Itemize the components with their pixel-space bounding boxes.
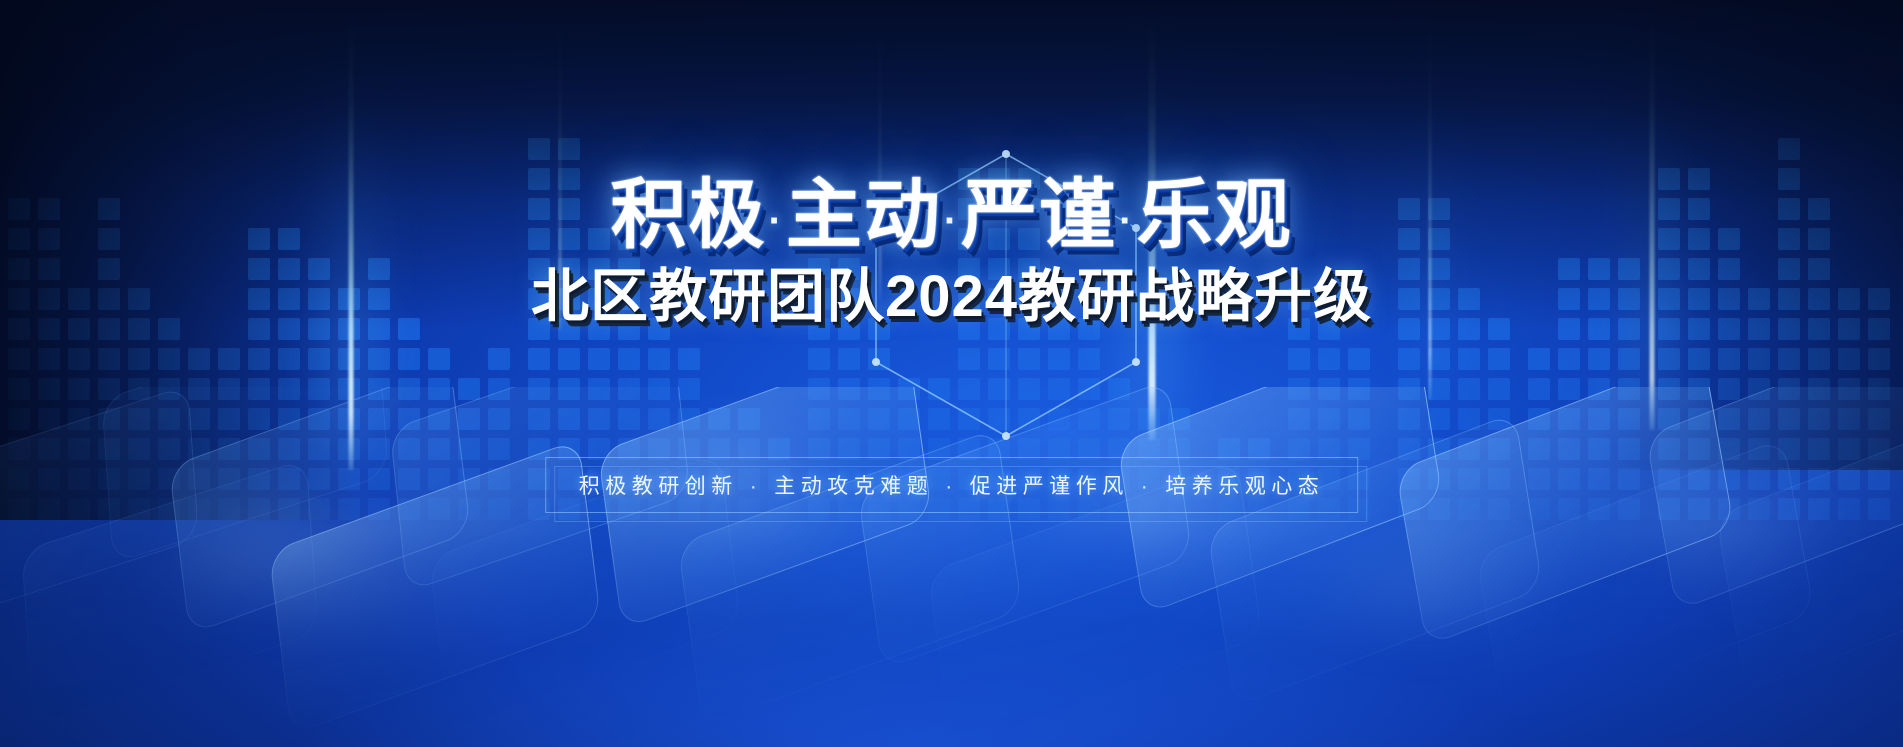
tagline-item-2: 主动攻克难题	[774, 475, 933, 498]
skyline-pixel	[1458, 498, 1480, 520]
skyline-pixel	[158, 348, 180, 370]
skyline-pixel	[188, 468, 210, 490]
skyline-column	[488, 348, 510, 520]
skyline-pixel	[278, 348, 300, 370]
skyline-pixel	[488, 468, 510, 490]
skyline-pixel	[1618, 408, 1640, 430]
skyline-pixel	[1658, 348, 1680, 370]
skyline-pixel	[1868, 468, 1890, 490]
skyline-pixel	[398, 498, 420, 520]
skyline-pixel	[38, 498, 60, 520]
skyline-pixel	[98, 438, 120, 460]
skyline-pixel	[988, 378, 1010, 400]
skyline-pixel	[1558, 378, 1580, 400]
skyline-pixel	[898, 408, 920, 430]
skyline-pixel	[1618, 498, 1640, 520]
skyline-pixel	[218, 378, 240, 400]
floor-sheen	[150, 507, 410, 627]
skyline-pixel	[1048, 408, 1070, 430]
skyline-pixel	[1658, 438, 1680, 460]
headline-separator-1: ·	[769, 199, 784, 243]
skyline-pixel	[898, 378, 920, 400]
skyline-pixel	[588, 378, 610, 400]
skyline-pixel	[68, 348, 90, 370]
skyline-pixel	[868, 348, 890, 370]
skyline-pixel	[1078, 408, 1100, 430]
skyline-pixel	[428, 498, 450, 520]
skyline-pixel	[1558, 438, 1580, 460]
skyline-pixel	[648, 408, 670, 430]
skyline-pixel	[128, 348, 150, 370]
page-subtitle: 北区教研团队2024教研战略升级	[0, 268, 1903, 326]
skyline-pixel	[1318, 408, 1340, 430]
skyline-pixel	[1778, 498, 1800, 520]
skyline-pixel	[38, 438, 60, 460]
skyline-pixel	[1288, 408, 1310, 430]
skyline-pixel	[338, 408, 360, 430]
skyline-pixel	[1488, 498, 1510, 520]
skyline-pixel	[488, 378, 510, 400]
skyline-pixel	[1528, 348, 1550, 370]
skyline-pixel	[1588, 408, 1610, 430]
skyline-pixel	[1588, 378, 1610, 400]
skyline-pixel	[68, 468, 90, 490]
skyline-pixel	[1588, 348, 1610, 370]
skyline-pixel	[248, 408, 270, 430]
skyline-pixel	[1808, 468, 1830, 490]
skyline-pixel	[128, 438, 150, 460]
skyline-pixel	[278, 468, 300, 490]
skyline-pixel	[1078, 348, 1100, 370]
skyline-pixel	[1558, 408, 1580, 430]
skyline-pixel	[1658, 378, 1680, 400]
skyline-pixel	[1838, 498, 1860, 520]
skyline-pixel	[38, 378, 60, 400]
skyline-pixel	[1718, 408, 1740, 430]
skyline-pixel	[1778, 438, 1800, 460]
skyline-pixel	[1458, 438, 1480, 460]
skyline-pixel	[1458, 468, 1480, 490]
skyline-pixel	[488, 348, 510, 370]
skyline-pixel	[188, 378, 210, 400]
tagline-dot-2: ·	[945, 475, 958, 498]
skyline-pixel	[338, 468, 360, 490]
skyline-pixel	[1718, 438, 1740, 460]
skyline-pixel	[218, 498, 240, 520]
skyline-pixel	[218, 438, 240, 460]
skyline-pixel	[528, 408, 550, 430]
skyline-pixel	[338, 378, 360, 400]
skyline-pixel	[1658, 468, 1680, 490]
skyline-pixel	[428, 378, 450, 400]
skyline-pixel	[278, 438, 300, 460]
skyline-pixel	[1688, 438, 1710, 460]
skyline-pixel	[308, 348, 330, 370]
skyline-pixel	[278, 408, 300, 430]
skyline-pixel	[618, 348, 640, 370]
headline-separator-3: ·	[1119, 199, 1134, 243]
skyline-pixel	[188, 408, 210, 430]
skyline-pixel	[1458, 378, 1480, 400]
skyline-pixel	[1458, 408, 1480, 430]
skyline-pixel	[1018, 408, 1040, 430]
skyline-pixel	[1778, 468, 1800, 490]
skyline-pixel	[868, 378, 890, 400]
skyline-pixel	[1868, 408, 1890, 430]
skyline-pixel	[1458, 348, 1480, 370]
floor-tile	[1645, 387, 1903, 611]
skyline-pixel	[248, 498, 270, 520]
skyline-pixel	[458, 378, 480, 400]
skyline-pixel	[98, 468, 120, 490]
skyline-pixel	[1428, 498, 1450, 520]
skyline-pixel	[1618, 468, 1640, 490]
skyline-pixel	[398, 438, 420, 460]
skyline-pixel	[458, 468, 480, 490]
skyline-pixel	[458, 438, 480, 460]
skyline-pixel	[1778, 378, 1800, 400]
page-title: 积极·主动·严谨·乐观	[0, 178, 1903, 254]
skyline-pixel	[128, 498, 150, 520]
skyline-pixel	[1808, 408, 1830, 430]
skyline-pixel	[1588, 438, 1610, 460]
skyline-pixel	[1558, 348, 1580, 370]
skyline-pixel	[68, 438, 90, 460]
skyline-pixel	[398, 468, 420, 490]
floor-tile	[101, 387, 388, 564]
skyline-pixel	[158, 438, 180, 460]
tagline-frame: 积极教研创新·主动攻克难题·促进严谨作风·培养乐观心态	[545, 457, 1359, 513]
skyline-pixel	[1138, 408, 1160, 430]
tagline-item-4: 培养乐观心态	[1165, 475, 1324, 498]
skyline-pixel	[1658, 408, 1680, 430]
skyline-pixel	[398, 348, 420, 370]
skyline-pixel	[1398, 468, 1420, 490]
skyline-pixel	[838, 348, 860, 370]
skyline-pixel	[38, 468, 60, 490]
skyline-pixel	[1398, 498, 1420, 520]
skyline-pixel	[1748, 348, 1770, 370]
skyline-pixel	[1398, 348, 1420, 370]
skyline-pixel	[368, 438, 390, 460]
skyline-pixel	[1618, 438, 1640, 460]
skyline-pixel	[428, 408, 450, 430]
skyline-pixel	[308, 438, 330, 460]
skyline-pixel	[868, 408, 890, 430]
skyline-pixel	[558, 378, 580, 400]
skyline-pixel	[248, 468, 270, 490]
skyline-pixel	[218, 348, 240, 370]
skyline-pixel	[1778, 138, 1800, 160]
skyline-pixel	[528, 138, 550, 160]
skyline-pixel	[838, 378, 860, 400]
skyline-pixel	[708, 408, 730, 430]
skyline-pixel	[738, 408, 760, 430]
tagline-item-1: 积极教研创新	[579, 475, 738, 498]
skyline-pixel	[1428, 348, 1450, 370]
skyline-pixel	[368, 378, 390, 400]
skyline-pixel	[1528, 468, 1550, 490]
pixel-skyline-decoration	[0, 0, 1903, 520]
skyline-pixel	[808, 348, 830, 370]
skyline-pixel	[558, 348, 580, 370]
skyline-pixel	[1838, 468, 1860, 490]
headline-word-4: 乐观	[1136, 173, 1292, 258]
skyline-pixel	[128, 408, 150, 430]
skyline-pixel	[398, 408, 420, 430]
skyline-pixel	[1688, 378, 1710, 400]
skyline-pixel	[1528, 498, 1550, 520]
skyline-pixel	[1618, 348, 1640, 370]
skyline-pixel	[158, 408, 180, 430]
skyline-pixel	[308, 468, 330, 490]
headline-separator-2: ·	[944, 199, 959, 243]
skyline-pixel	[68, 378, 90, 400]
skyline-pixel	[678, 408, 700, 430]
skyline-pixel	[618, 378, 640, 400]
skyline-pixel	[988, 408, 1010, 430]
skyline-pixel	[808, 408, 830, 430]
headline-word-1: 积极	[611, 173, 767, 258]
skyline-pixel	[158, 468, 180, 490]
skyline-pixel	[8, 348, 30, 370]
perspective-floor-tiles	[0, 387, 1903, 747]
skyline-pixel	[368, 348, 390, 370]
skyline-pixel	[928, 408, 950, 430]
tagline-dot-3: ·	[1141, 475, 1154, 498]
skyline-pixel	[1398, 438, 1420, 460]
skyline-pixel	[558, 408, 580, 430]
floor-tile	[0, 387, 199, 619]
skyline-pixel	[188, 438, 210, 460]
tagline-text: 积极教研创新·主动攻克难题·促进严谨作风·培养乐观心态	[579, 470, 1325, 500]
skyline-pixel	[1688, 468, 1710, 490]
skyline-pixel	[1048, 348, 1070, 370]
skyline-pixel	[1488, 438, 1510, 460]
skyline-pixel	[458, 408, 480, 430]
skyline-pixel	[1318, 378, 1340, 400]
skyline-pixel	[368, 468, 390, 490]
skyline-pixel	[1868, 438, 1890, 460]
skyline-pixel	[1318, 348, 1340, 370]
skyline-pixel	[98, 498, 120, 520]
skyline-pixel	[648, 378, 670, 400]
headline-word-3: 严谨	[961, 173, 1117, 258]
floor-tile	[1475, 438, 1814, 732]
skyline-pixel	[218, 408, 240, 430]
floor-sheen	[1600, 477, 1830, 587]
skyline-pixel	[618, 408, 640, 430]
skyline-pixel	[528, 378, 550, 400]
floor-tile	[1715, 398, 1903, 692]
skyline-pixel	[528, 348, 550, 370]
floor-tile	[169, 387, 472, 635]
skyline-pixel	[1488, 468, 1510, 490]
skyline-pixel	[1718, 378, 1740, 400]
skyline-pixel	[398, 378, 420, 400]
skyline-pixel	[308, 408, 330, 430]
skyline-pixel	[68, 498, 90, 520]
skyline-pixel	[8, 378, 30, 400]
skyline-pixel	[1488, 348, 1510, 370]
skyline-pixel	[248, 438, 270, 460]
skyline-pixel	[1488, 408, 1510, 430]
skyline-column	[428, 348, 450, 520]
skyline-pixel	[308, 498, 330, 520]
skyline-pixel	[248, 348, 270, 370]
skyline-pixel	[8, 408, 30, 430]
skyline-pixel	[1558, 498, 1580, 520]
skyline-pixel	[98, 348, 120, 370]
skyline-pixel	[1618, 378, 1640, 400]
floor-tile	[21, 458, 319, 725]
skyline-pixel	[1488, 378, 1510, 400]
skyline-pixel	[808, 378, 830, 400]
banner-stage: 积极·主动·严谨·乐观 北区教研团队2024教研战略升级 积极教研创新·主动攻克…	[0, 0, 1903, 747]
skyline-pixel	[1168, 408, 1190, 430]
skyline-pixel	[1018, 348, 1040, 370]
skyline-pixel	[588, 408, 610, 430]
skyline-pixel	[1838, 378, 1860, 400]
skyline-pixel	[488, 498, 510, 520]
skyline-pixel	[278, 378, 300, 400]
skyline-pixel	[158, 498, 180, 520]
skyline-pixel	[958, 378, 980, 400]
skyline-pixel	[1108, 408, 1130, 430]
skyline-pixel	[1528, 378, 1550, 400]
left-vignette	[0, 0, 360, 520]
skyline-pixel	[1558, 468, 1580, 490]
tagline-dot-1: ·	[750, 475, 763, 498]
skyline-pixel	[128, 378, 150, 400]
light-beams-decoration	[0, 0, 1903, 520]
skyline-pixel	[1428, 438, 1450, 460]
skyline-pixel	[1718, 348, 1740, 370]
skyline-pixel	[1078, 378, 1100, 400]
skyline-pixel	[1868, 348, 1890, 370]
skyline-pixel	[1018, 378, 1040, 400]
skyline-column	[398, 318, 420, 520]
floor-tile	[1395, 387, 1734, 646]
skyline-column	[458, 378, 480, 520]
skyline-pixel	[1718, 468, 1740, 490]
skyline-pixel	[1748, 468, 1770, 490]
skyline-pixel	[838, 408, 860, 430]
skyline-pixel	[368, 408, 390, 430]
skyline-column	[1528, 348, 1550, 520]
skyline-pixel	[1288, 348, 1310, 370]
skyline-pixel	[1428, 378, 1450, 400]
skyline-pixel	[1748, 408, 1770, 430]
skyline-pixel	[8, 468, 30, 490]
skyline-pixel	[68, 408, 90, 430]
skyline-column	[188, 348, 210, 520]
skyline-pixel	[1348, 408, 1370, 430]
skyline-pixel	[1748, 378, 1770, 400]
skyline-pixel	[1718, 498, 1740, 520]
skyline-pixel	[38, 348, 60, 370]
skyline-pixel	[1398, 378, 1420, 400]
skyline-pixel	[1528, 438, 1550, 460]
skyline-pixel	[648, 348, 670, 370]
skyline-pixel	[458, 498, 480, 520]
skyline-pixel	[1808, 438, 1830, 460]
skyline-pixel	[1428, 408, 1450, 430]
skyline-pixel	[1658, 498, 1680, 520]
skyline-pixel	[1688, 348, 1710, 370]
skyline-column	[218, 348, 240, 520]
skyline-pixel	[678, 378, 700, 400]
skyline-pixel	[1838, 348, 1860, 370]
skyline-pixel	[428, 438, 450, 460]
skyline-pixel	[248, 378, 270, 400]
skyline-column	[158, 318, 180, 520]
skyline-pixel	[308, 378, 330, 400]
skyline-pixel	[428, 468, 450, 490]
skyline-pixel	[958, 348, 980, 370]
skyline-pixel	[218, 468, 240, 490]
skyline-pixel	[1688, 498, 1710, 520]
skyline-pixel	[1868, 378, 1890, 400]
skyline-pixel	[338, 438, 360, 460]
skyline-pixel	[1428, 468, 1450, 490]
skyline-pixel	[1808, 378, 1830, 400]
skyline-pixel	[98, 408, 120, 430]
skyline-pixel	[278, 498, 300, 520]
skyline-pixel	[1348, 378, 1370, 400]
skyline-pixel	[488, 408, 510, 430]
skyline-pixel	[188, 498, 210, 520]
skyline-pixel	[1778, 348, 1800, 370]
skyline-pixel	[558, 138, 580, 160]
skyline-pixel	[1528, 408, 1550, 430]
skyline-pixel	[338, 348, 360, 370]
skyline-pixel	[988, 348, 1010, 370]
skyline-pixel	[368, 498, 390, 520]
skyline-pixel	[928, 378, 950, 400]
skyline-pixel	[958, 408, 980, 430]
headline-word-2: 主动	[786, 173, 942, 258]
skyline-pixel	[678, 348, 700, 370]
skyline-pixel	[8, 438, 30, 460]
skyline-pixel	[1588, 468, 1610, 490]
skyline-pixel	[488, 438, 510, 460]
skyline-pixel	[1808, 348, 1830, 370]
floor-tile	[858, 387, 1193, 670]
skyline-pixel	[98, 378, 120, 400]
skyline-pixel	[338, 498, 360, 520]
skyline-pixel	[128, 468, 150, 490]
tagline-item-3: 促进严谨作风	[970, 475, 1129, 498]
floor-sheen	[1290, 537, 1550, 657]
skyline-pixel	[1868, 498, 1890, 520]
skyline-pixel	[1108, 378, 1130, 400]
skyline-pixel	[8, 498, 30, 520]
skyline-pixel	[158, 378, 180, 400]
skyline-pixel	[1748, 438, 1770, 460]
skyline-pixel	[588, 348, 610, 370]
skyline-pixel	[1588, 498, 1610, 520]
skyline-pixel	[1688, 408, 1710, 430]
skyline-pixel	[188, 348, 210, 370]
skyline-pixel	[1348, 348, 1370, 370]
skyline-pixel	[1838, 438, 1860, 460]
skyline-pixel	[1288, 378, 1310, 400]
skyline-pixel	[1778, 408, 1800, 430]
skyline-pixel	[38, 408, 60, 430]
skyline-pixel	[1808, 498, 1830, 520]
skyline-pixel	[428, 348, 450, 370]
